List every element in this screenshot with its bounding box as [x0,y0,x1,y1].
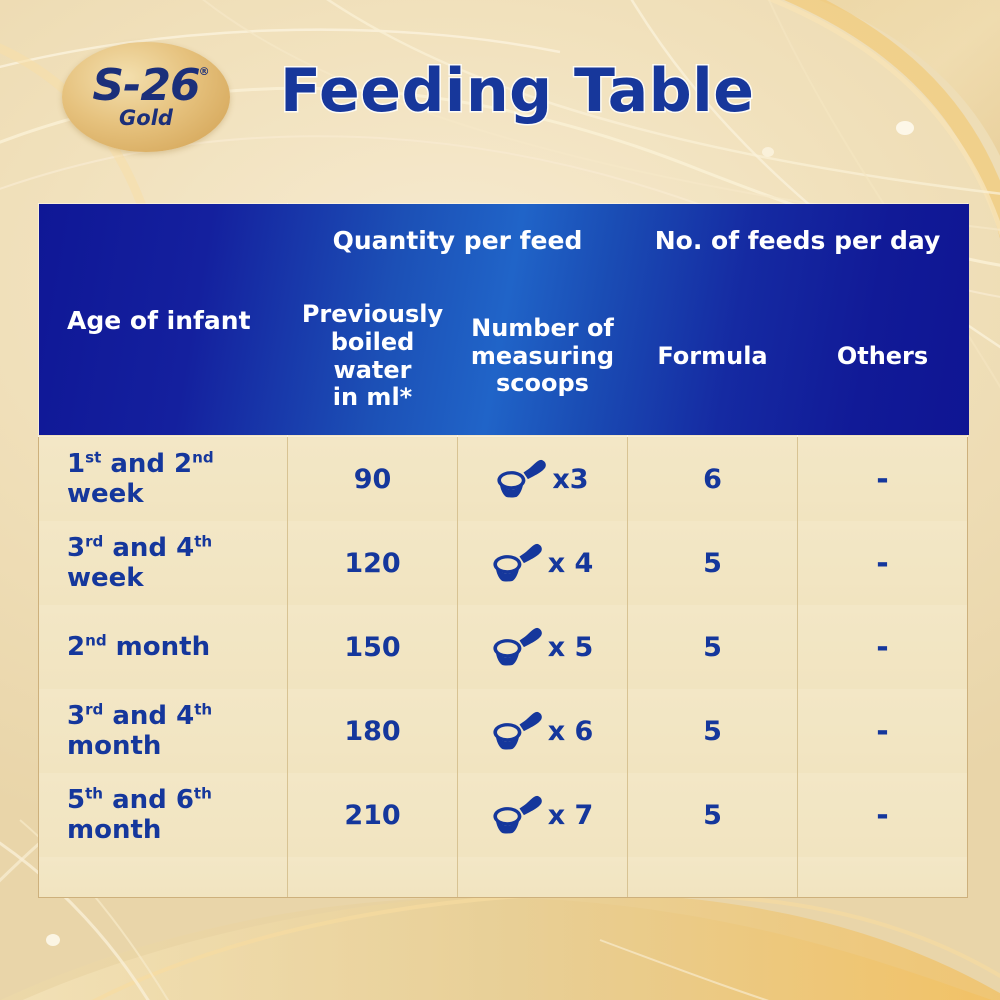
feeding-table-page: S-26 ® Gold Feeding Table Age of infant [0,0,1000,1000]
cell-boiled-water-ml: 120 [288,521,458,605]
measuring-scoop-icon [492,542,546,584]
feeding-table-container: Age of infant Quantity per feed No. of f… [38,203,968,875]
cell-measuring-scoops: x 4 [458,521,628,605]
measuring-scoop-icon [492,794,546,836]
others-dash: - [876,630,888,665]
column-header-water-label: Previously boiled water in ml* [296,301,449,412]
cell-age-of-infant: 3rd and 4th week [39,521,288,605]
column-header-scoops-label: Number of measuring scoops [471,315,614,398]
scoops-label-line1: Number of [471,314,614,342]
cell-age-of-infant: 1st and 2nd week [39,437,288,522]
cell-age-of-infant-spacer [39,857,288,898]
table-row: 2nd month150x 55- [39,605,968,689]
column-header-quantity-label: Quantity per feed [333,226,583,255]
table-row: 5th and 6th month210x 75- [39,773,968,857]
cell-others-feeds: - [798,689,968,773]
cell-boiled-water-ml-spacer [288,857,458,898]
water-label-line1: Previously [302,300,443,328]
s26-gold-logo: S-26 ® Gold [62,42,230,152]
column-header-feeds-label: No. of feeds per day [655,226,941,255]
scoop-count-label: x 4 [548,548,594,579]
table-header: Age of infant Quantity per feed No. of f… [39,204,968,437]
column-header-others-label: Others [837,343,928,371]
table-row: 3rd and 4th week120x 45- [39,521,968,605]
scoop-group: x 7 [464,794,621,836]
cell-age-of-infant: 2nd month [39,605,288,689]
water-label-line3: in ml* [333,383,412,411]
logo-wordmark: S-26 ® [92,65,199,107]
scoop-count-label: x 7 [548,800,594,831]
scoop-count-label: x 6 [548,716,594,747]
water-label-line2: boiled water [331,328,415,384]
scoop-group: x 5 [464,626,621,668]
cell-others-feeds: - [798,773,968,857]
scoops-label-line3: scoops [496,369,589,397]
registered-trademark-icon: ® [199,67,209,77]
column-header-formula: Formula [628,277,798,437]
others-dash: - [876,546,888,581]
measuring-scoop-icon [496,458,550,500]
cell-others-feeds: - [798,605,968,689]
cell-formula-feeds: 5 [628,689,798,773]
cell-age-of-infant: 3rd and 4th month [39,689,288,773]
scoop-group: x 4 [464,542,621,584]
scoops-label-line2: measuring [471,342,614,370]
cell-boiled-water-ml: 210 [288,773,458,857]
measuring-scoop-icon [492,626,546,668]
cell-measuring-scoops: x 6 [458,689,628,773]
cell-boiled-water-ml: 180 [288,689,458,773]
others-dash: - [876,798,888,833]
table-row: 3rd and 4th month180x 65- [39,689,968,773]
table-bottom-spacer-row [39,857,968,898]
column-header-formula-label: Formula [657,343,767,371]
cell-boiled-water-ml: 150 [288,605,458,689]
cell-measuring-scoops: x 5 [458,605,628,689]
scoop-count-label: x3 [552,464,588,495]
table-body: 1st and 2nd week90x36-3rd and 4th week12… [39,437,968,898]
logo-main-text: S-26 [92,60,199,111]
column-header-feeds-per-day: No. of feeds per day [628,204,968,277]
cell-others-feeds: - [798,437,968,522]
scoop-group: x 6 [464,710,621,752]
cell-others-feeds-spacer [798,857,968,898]
column-header-measuring-scoops: Number of measuring scoops [458,277,628,437]
others-dash: - [876,462,888,497]
page-header: S-26 ® Gold Feeding Table [0,0,1000,195]
column-header-boiled-water: Previously boiled water in ml* [288,277,458,437]
cell-formula-feeds: 5 [628,521,798,605]
column-header-age-label: Age of infant [67,306,251,335]
feeding-table: Age of infant Quantity per feed No. of f… [38,203,968,898]
cell-formula-feeds: 5 [628,773,798,857]
table-header-row-group: Age of infant Quantity per feed No. of f… [39,204,968,277]
scoop-count-label: x 5 [548,632,594,663]
others-dash: - [876,714,888,749]
scoop-group: x3 [464,458,621,500]
cell-age-of-infant: 5th and 6th month [39,773,288,857]
cell-formula-feeds: 5 [628,605,798,689]
column-header-others: Others [798,277,968,437]
page-title: Feeding Table [280,56,754,126]
cell-boiled-water-ml: 90 [288,437,458,522]
measuring-scoop-icon [492,710,546,752]
column-header-age-of-infant: Age of infant [39,204,288,437]
column-header-quantity-per-feed: Quantity per feed [288,204,628,277]
cell-measuring-scoops: x3 [458,437,628,522]
cell-formula-feeds-spacer [628,857,798,898]
cell-others-feeds: - [798,521,968,605]
cell-measuring-scoops-spacer [458,857,628,898]
cell-measuring-scoops: x 7 [458,773,628,857]
cell-formula-feeds: 6 [628,437,798,522]
table-row: 1st and 2nd week90x36- [39,437,968,522]
